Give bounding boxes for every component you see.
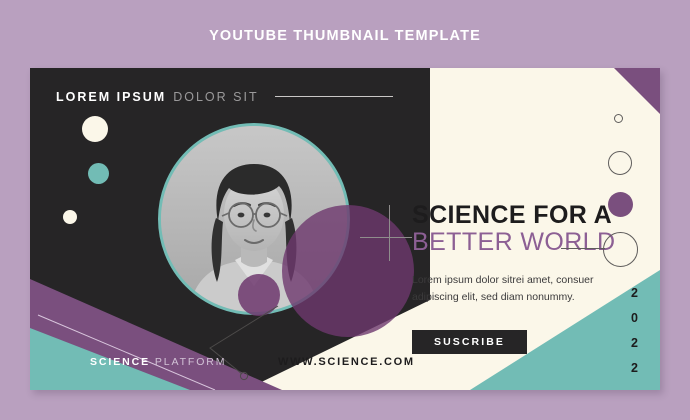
header-divider-line — [275, 96, 393, 97]
year-stack: 2 0 2 2 — [631, 286, 638, 375]
ring-leader-line — [561, 248, 605, 249]
headline-line-1: SCIENCE FOR A — [412, 202, 627, 229]
header-bold-label: LOREM IPSUM — [56, 90, 166, 104]
decorative-ring-large — [603, 232, 638, 267]
decorative-dot-cream-small — [63, 210, 77, 224]
headline-line-2: BETTER WORLD — [412, 229, 627, 256]
heading-vertical-rule — [389, 205, 390, 261]
brand-name-light: PLATFORM — [155, 356, 227, 368]
year-digit: 2 — [631, 286, 638, 300]
body-copy: Lorem ipsum dolor sitrei amet, consuer a… — [412, 272, 597, 306]
decorative-dot-cream-large — [82, 116, 108, 142]
decorative-dot-teal — [88, 163, 109, 184]
thumbnail-template-page: YOUTUBE THUMBNAIL TEMPLATE LOREM IPSUM D… — [0, 0, 690, 420]
decorative-circle-purple-small — [238, 274, 280, 316]
brand-name-bold: SCIENCE — [90, 356, 150, 368]
year-digit: 0 — [631, 311, 638, 325]
subscribe-button[interactable]: SUSCRIBE — [412, 330, 527, 354]
year-digit: 2 — [631, 336, 638, 350]
decorative-ring-small — [608, 151, 632, 175]
top-right-corner-triangle — [614, 68, 660, 114]
header-light-label: DOLOR SIT — [173, 90, 258, 104]
decorative-circle-purple-large — [282, 205, 414, 337]
decorative-dot-purple-right — [608, 192, 633, 217]
youtube-thumbnail-card: LOREM IPSUM DOLOR SIT — [30, 68, 660, 390]
heading-horizontal-rule — [360, 237, 412, 238]
card-header-text: LOREM IPSUM DOLOR SIT — [56, 90, 259, 104]
year-digit: 2 — [631, 361, 638, 375]
decorative-ring-extra-small — [614, 114, 623, 123]
brand-footer: SCIENCE PLATFORM — [90, 356, 226, 368]
website-url: WWW.SCIENCE.COM — [278, 356, 415, 368]
page-title: YOUTUBE THUMBNAIL TEMPLATE — [0, 28, 690, 44]
